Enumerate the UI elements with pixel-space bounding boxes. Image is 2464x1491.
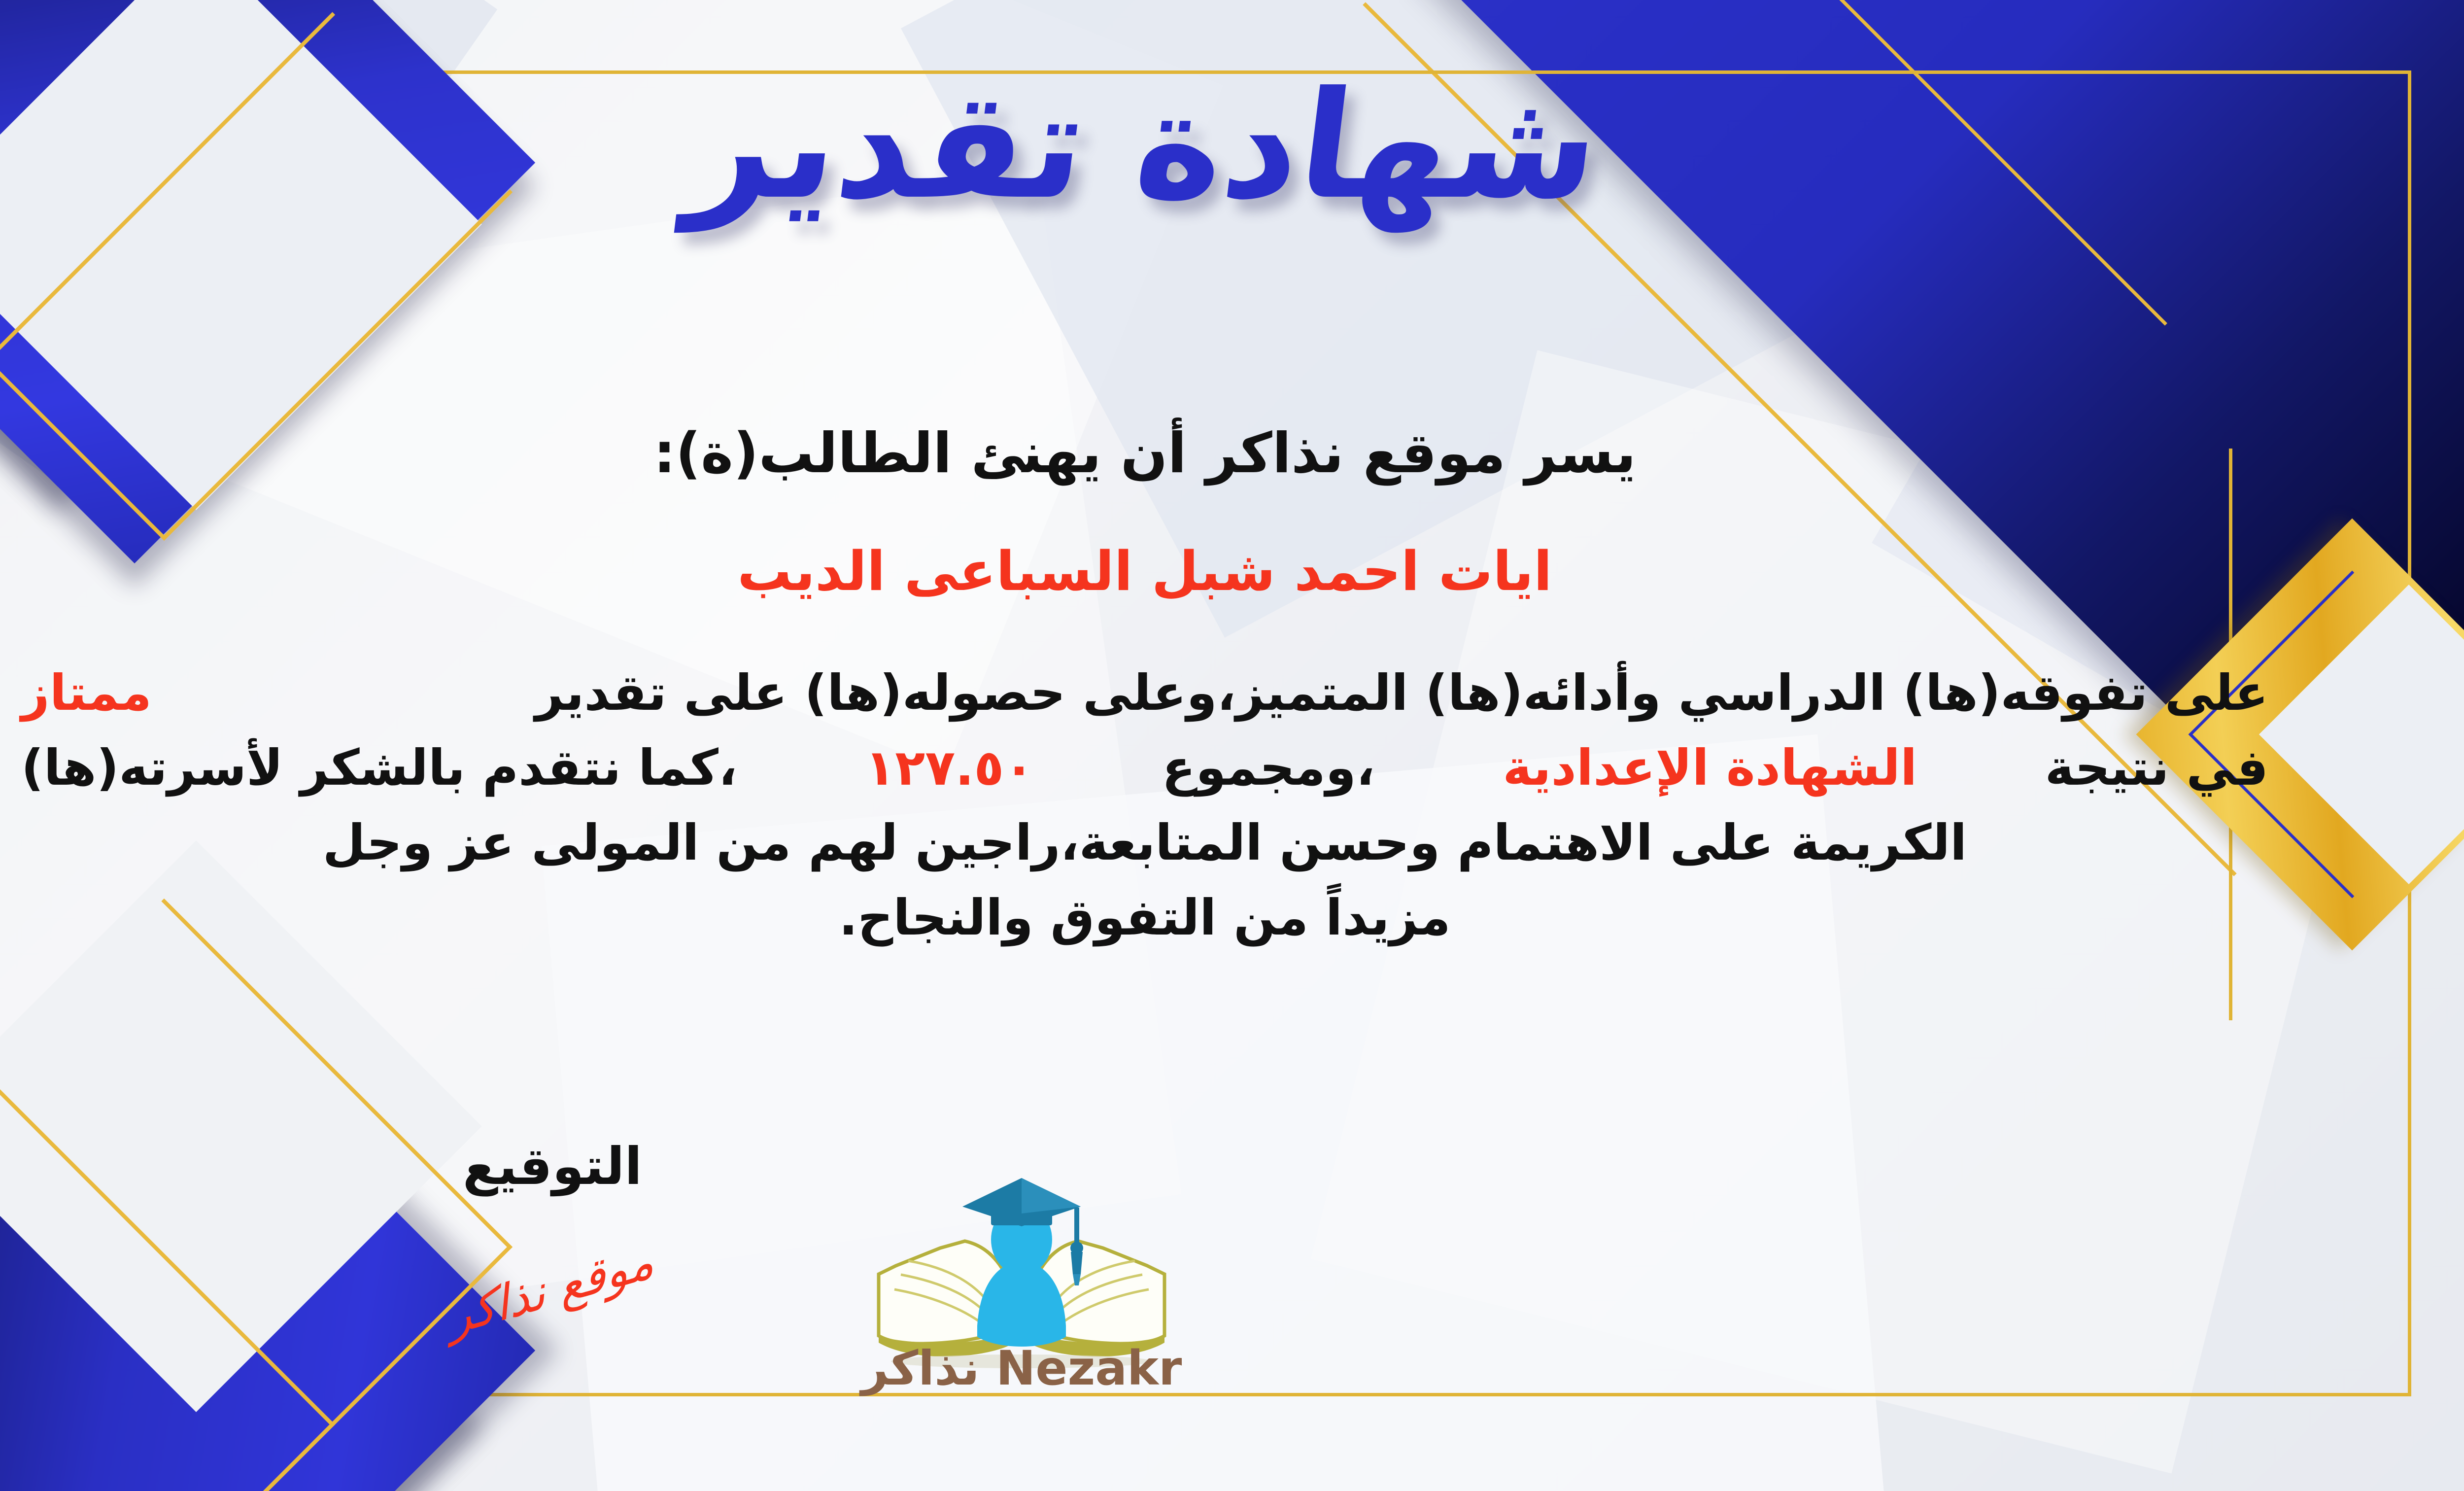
signature-mark: موقع نذاكر (445, 1233, 657, 1347)
body-line-3: الكريمة على الاهتمام وحسن المتابعة،راجين… (0, 805, 2298, 880)
logo-wordmark: Nezakr نذاكر (849, 1341, 1194, 1396)
grade-value: ممتاز (21, 656, 152, 730)
certificate-title: شهادة تقدير (0, 53, 2339, 238)
total-score: ١٢٧.٥٠ (865, 730, 1034, 805)
nezakr-logo: Nezakr نذاكر (849, 1129, 1194, 1434)
exam-name: الشهادة الإعدادية (1503, 730, 1917, 805)
body-line-2-prefix: في نتيجة (2045, 730, 2268, 805)
body-line-2: في نتيجة الشهادة الإعدادية ،ومجموع ١٢٧.٥… (0, 730, 2298, 805)
body-line-1: على تفوقه(ها) الدراسي وأدائه(ها) المتميز… (0, 656, 2298, 730)
certificate-page: شهادة تقدير يسر موقع نذاكر أن يهنئ الطال… (0, 0, 2464, 1491)
body-line-2-middle: ،ومجموع (1162, 730, 1375, 805)
body-line-1-text: على تفوقه(ها) الدراسي وأدائه(ها) المتميز… (535, 656, 2268, 730)
certificate-body: على تفوقه(ها) الدراسي وأدائه(ها) المتميز… (0, 656, 2298, 955)
student-name: ايات احمد شبل السباعى الديب (0, 540, 2327, 603)
body-line-4: مزيداً من التفوق والنجاح. (0, 880, 2298, 955)
body-line-2-suffix: ،كما نتقدم بالشكر لأسرته(ها) (21, 730, 737, 805)
signature-label: التوقيع (463, 1136, 642, 1196)
greeting-line: يسر موقع نذاكر أن يهنئ الطالب(ة): (0, 421, 2327, 485)
